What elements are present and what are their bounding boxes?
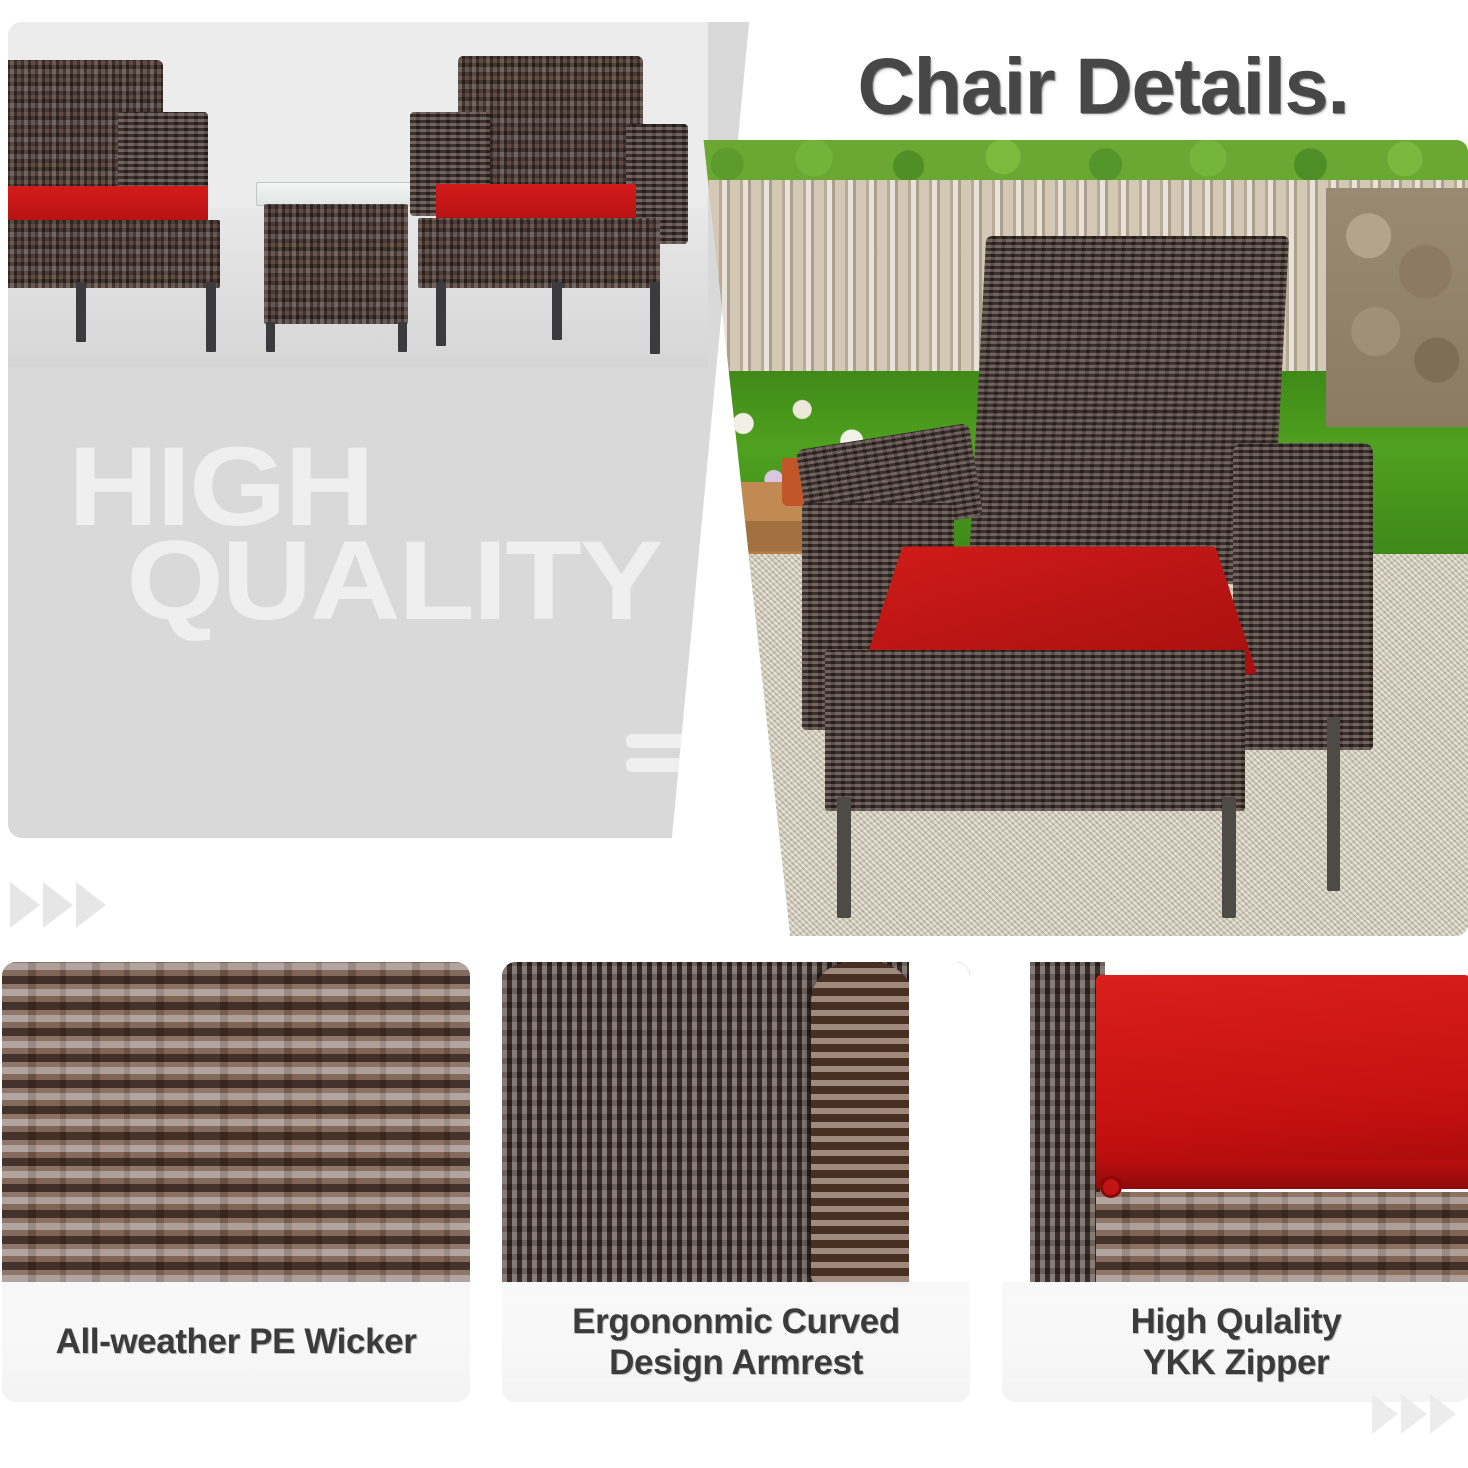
wicker-chair-left: [8, 60, 268, 340]
chevron-divider-left: [10, 882, 106, 928]
chair-right-armrest: [1233, 443, 1373, 751]
three-piece-set-photo: [8, 22, 708, 367]
high-quality-watermark: HIGH QUALITY: [68, 440, 780, 628]
zipper-closeup-image: [1002, 962, 1468, 1282]
caption-line: Design Armrest: [572, 1342, 900, 1383]
caption-line: YKK Zipper: [1131, 1342, 1342, 1383]
chair-seat-front: [825, 650, 1245, 810]
wicker-side-table: [256, 182, 416, 352]
caption-line: All-weather PE Wicker: [56, 1321, 417, 1362]
chevron-right-icon: [1401, 1394, 1427, 1434]
curved-armrest-post: [811, 962, 914, 1282]
chevron-right-icon: [1372, 1394, 1398, 1434]
feature-tile-all-weather-pe-wicker[interactable]: All-weather PE Wicker: [2, 962, 470, 1402]
chair-leg-front-right: [1222, 797, 1236, 917]
feature-caption: High Qulality YKK Zipper: [1131, 1301, 1342, 1384]
watermark-line-2: QUALITY: [68, 534, 780, 628]
seat-base-wicker: [1096, 1192, 1468, 1282]
chevron-right-icon: [76, 882, 106, 928]
caption-band: Ergononmic Curved Design Armrest: [502, 1282, 970, 1402]
caption-line: Ergononmic Curved: [572, 1301, 900, 1342]
red-cushion: [1096, 975, 1468, 1173]
chair-leg-rear-right: [1327, 717, 1340, 891]
pe-wicker-closeup-image: [2, 962, 470, 1282]
chevron-right-icon: [43, 882, 73, 928]
feature-tile-ergonomic-curved-armrest[interactable]: Ergononmic Curved Design Armrest: [502, 962, 970, 1402]
feature-caption: All-weather PE Wicker: [56, 1321, 417, 1362]
wicker-armchair: [790, 236, 1373, 905]
caption-band: High Qulality YKK Zipper: [1002, 1282, 1468, 1402]
ivy-foliage: [680, 140, 1468, 180]
three-piece-set-panel[interactable]: HIGH QUALITY: [8, 22, 780, 838]
photo-white-margin: [909, 962, 970, 1282]
caption-band: All-weather PE Wicker: [2, 1282, 470, 1402]
photo-white-margin: [1002, 962, 1030, 1282]
wicker-chair-right: [428, 56, 708, 346]
hero-chair-photo[interactable]: [680, 140, 1468, 936]
cushion-welt-seam: [1096, 1160, 1468, 1189]
watermark-bar-2: [626, 758, 700, 772]
chevron-divider-right: [1372, 1394, 1456, 1434]
page-title: Chair Details.: [742, 36, 1464, 136]
chevron-right-icon: [1430, 1394, 1456, 1434]
chair-side-frame: [1030, 962, 1105, 1282]
top-section: HIGH QUALITY Chair Details.: [0, 0, 1468, 950]
caption-line: High Qulality: [1131, 1301, 1342, 1342]
armrest-closeup-image: [502, 962, 970, 1282]
chevron-right-icon: [10, 882, 40, 928]
chair-leg-front-left: [837, 797, 851, 917]
watermark-bar-1: [626, 734, 776, 748]
feature-tile-high-quality-ykk-zipper[interactable]: High Qulality YKK Zipper: [1002, 962, 1468, 1402]
feature-caption: Ergononmic Curved Design Armrest: [572, 1301, 900, 1384]
